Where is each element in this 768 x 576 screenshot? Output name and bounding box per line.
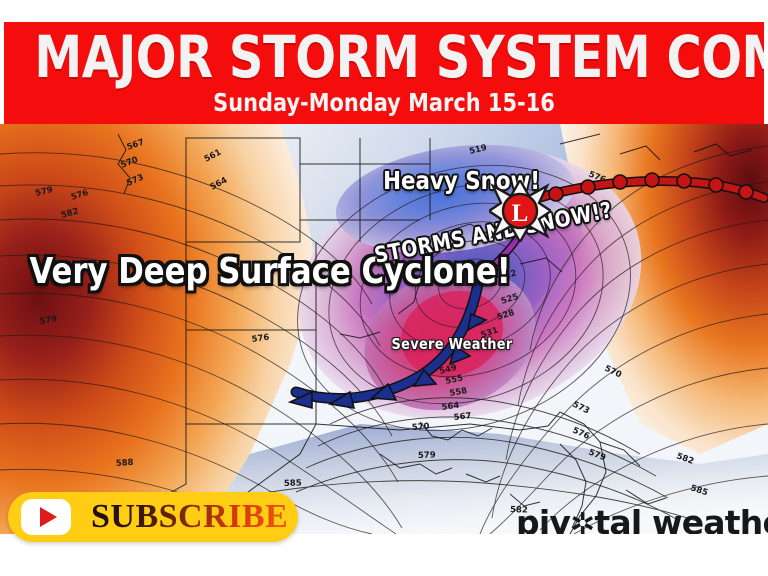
svg-text:588: 588 [116, 458, 134, 469]
youtube-play-icon [21, 499, 71, 535]
svg-text:567: 567 [453, 411, 472, 423]
subscribe-label: SUBSCRIBE [91, 498, 288, 536]
headline-subtitle: Sunday-Monday March 15-16 [31, 88, 738, 118]
low-marker-label: L [512, 200, 529, 227]
headline-title: MAJOR STORM SYSTEM COMING! [34, 22, 733, 94]
weather-map[interactable]: 567 570 573 576 579 582 561 564 579 576 … [0, 124, 768, 534]
map-graphic: 567 570 573 576 579 582 561 564 579 576 … [0, 124, 768, 534]
headline-banner: MAJOR STORM SYSTEM COMING! Sunday-Monday… [4, 22, 764, 124]
svg-text:579: 579 [418, 450, 436, 461]
svg-text:570: 570 [412, 422, 430, 433]
thumbnail-root: 567 570 573 576 579 582 561 564 579 576 … [0, 0, 768, 576]
subscribe-button[interactable]: SUBSCRIBE [8, 492, 298, 542]
svg-text:585: 585 [284, 478, 302, 489]
low-pressure-marker: L [489, 180, 551, 242]
